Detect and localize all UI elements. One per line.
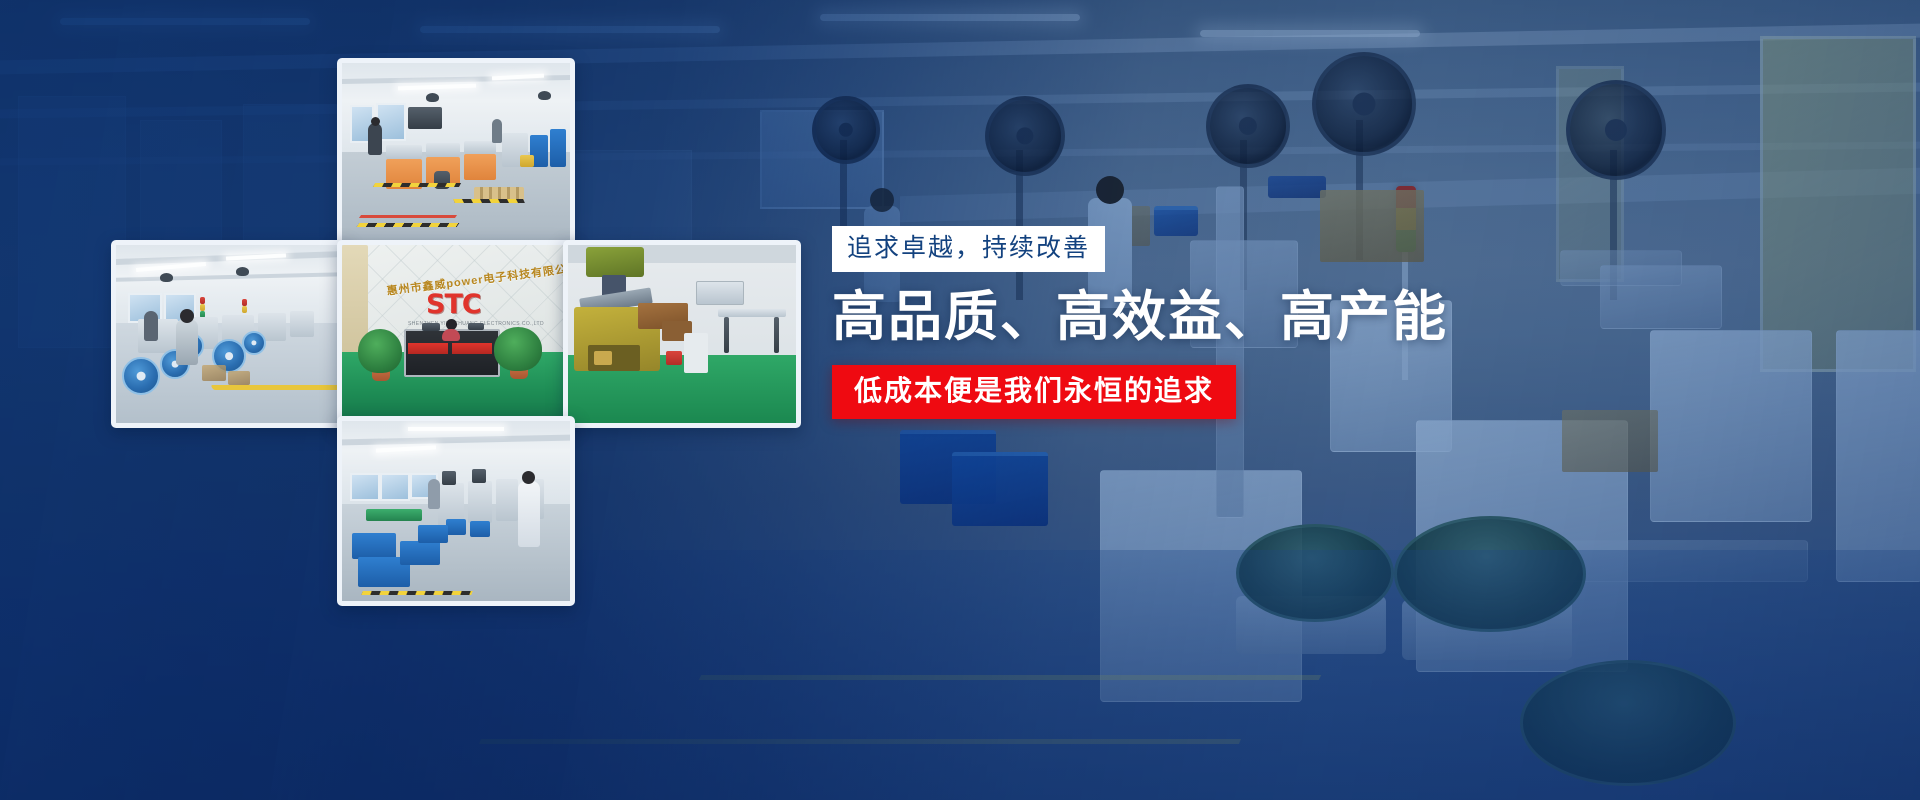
- desk-monitor: [422, 323, 440, 331]
- photo-right-scene: [568, 245, 796, 423]
- red-tote: [666, 351, 682, 365]
- carton-box: [202, 365, 226, 381]
- eyebrow-slogan: 追求卓越，持续改善: [832, 226, 1105, 272]
- photo-center-scene: 惠州市鑫威power电子科技有限公司 STC SHENZHEN YINGCHUA…: [342, 245, 570, 423]
- worker-head: [371, 117, 380, 126]
- worker-head: [522, 471, 535, 484]
- stack-light-red: [242, 299, 247, 306]
- collage-photo-top[interactable]: [337, 58, 575, 254]
- worker-figure: [492, 119, 502, 143]
- ceiling-lamp-icon: [236, 267, 249, 276]
- ceiling-lamp-icon: [426, 93, 439, 102]
- headline-slogan: 高品质、高效益、高产能: [832, 289, 1392, 346]
- collage-photo-center[interactable]: 惠州市鑫威power电子科技有限公司 STC SHENZHEN YINGCHUA…: [337, 240, 575, 428]
- worker-figure: [428, 479, 440, 509]
- photo-collage: 惠州市鑫威power电子科技有限公司 STC SHENZHEN YINGCHUA…: [0, 0, 820, 800]
- floor-yellow-line: [211, 385, 344, 390]
- blue-crate: [418, 525, 448, 543]
- wall-panel-box: [696, 281, 744, 305]
- worker-head: [180, 309, 194, 323]
- stamping-machine-head: [586, 247, 644, 277]
- desk-red-panel: [408, 343, 448, 354]
- worker-figure: [176, 319, 198, 365]
- hero-copy-block: 追求卓越，持续改善 高品质、高效益、高产能 低成本便是我们永恒的追求: [832, 226, 1392, 419]
- light-tube: [408, 427, 504, 431]
- blue-crate: [470, 521, 490, 537]
- floor-red-line: [359, 215, 457, 218]
- photo-left-scene: [116, 245, 344, 423]
- blue-crate: [352, 533, 396, 559]
- assembly-machine: [468, 481, 492, 523]
- component-reel: [242, 331, 266, 355]
- floor-tape: [373, 183, 461, 187]
- stack-light-red: [200, 297, 205, 304]
- floor-tape: [453, 199, 525, 203]
- stack-light-yellow: [242, 306, 247, 313]
- carton-box: [228, 371, 250, 385]
- winding-machine: [290, 311, 314, 337]
- window: [350, 473, 380, 501]
- machine-head: [472, 469, 486, 483]
- worker-figure: [368, 123, 382, 155]
- ceiling-lamp-icon: [538, 91, 551, 100]
- ribbon-slogan: 低成本便是我们永恒的追求: [832, 365, 1236, 419]
- worker-figure: [144, 311, 158, 341]
- floor-tape: [357, 223, 460, 227]
- potted-plant: [358, 329, 402, 373]
- machine: [408, 107, 442, 129]
- company-hero-banner: 惠州市鑫威power电子科技有限公司 STC SHENZHEN YINGCHUA…: [0, 0, 1920, 800]
- collage-photo-bottom[interactable]: [337, 416, 575, 606]
- blue-crate: [446, 519, 466, 535]
- assembly-machine: [496, 479, 518, 521]
- collage-photo-left[interactable]: [111, 240, 349, 428]
- floor-tape: [361, 591, 473, 595]
- worker-figure: [518, 481, 540, 547]
- desk-monitor: [468, 323, 484, 330]
- workstation-top: [464, 141, 496, 154]
- stack-light-yellow: [200, 304, 205, 311]
- window: [380, 473, 410, 501]
- white-panel: [684, 333, 708, 373]
- collage-photo-right[interactable]: [563, 240, 801, 428]
- table-leg: [724, 317, 729, 353]
- receptionist-figure: [442, 329, 460, 341]
- stc-logo: STC: [426, 289, 481, 320]
- green-work-table: [366, 509, 422, 521]
- workstation-top: [386, 145, 422, 159]
- tote-box: [520, 155, 534, 167]
- potted-plant: [494, 327, 542, 371]
- machine: [550, 129, 566, 167]
- photo-top-scene: [342, 63, 570, 249]
- component-reel: [122, 357, 160, 395]
- workstation-top: [426, 143, 460, 157]
- work-table: [718, 309, 786, 317]
- desk-red-panel: [452, 343, 492, 354]
- photo-bottom-scene: [342, 421, 570, 601]
- blue-crate: [400, 541, 440, 565]
- machine-head: [442, 471, 456, 485]
- ceiling-lamp-icon: [160, 273, 173, 282]
- workstation-partition: [464, 154, 496, 180]
- table-leg: [774, 317, 779, 353]
- die-insert: [594, 351, 612, 365]
